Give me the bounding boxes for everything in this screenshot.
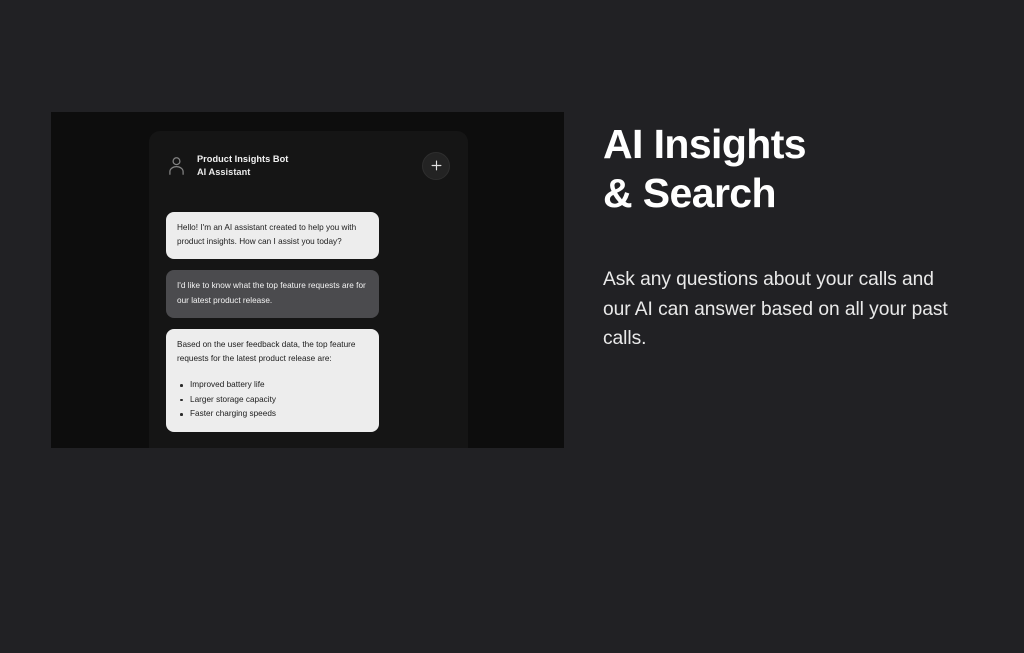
- message-text: I'd like to know what the top feature re…: [177, 279, 368, 307]
- list-item: Larger storage capacity: [190, 393, 368, 408]
- message-row: I'd like to know what the top feature re…: [166, 270, 451, 317]
- page-title: AI Insights & Search: [603, 120, 963, 218]
- list-item: Faster charging speeds: [190, 407, 368, 422]
- plus-icon: [431, 160, 442, 171]
- chat-title: Product Insights Bot: [197, 153, 422, 165]
- message-list: Hello! I'm an AI assistant created to he…: [166, 212, 451, 443]
- bot-message-bubble: Based on the user feedback data, the top…: [166, 329, 379, 432]
- user-message-bubble: I'd like to know what the top feature re…: [166, 270, 379, 317]
- message-row: Based on the user feedback data, the top…: [166, 329, 451, 432]
- app-preview-panel: Product Insights Bot AI Assistant Hello!…: [51, 112, 564, 448]
- message-text: Hello! I'm an AI assistant created to he…: [177, 221, 368, 249]
- bot-message-bubble: Hello! I'm an AI assistant created to he…: [166, 212, 379, 259]
- user-outline-icon: [168, 156, 185, 175]
- chat-header: Product Insights Bot AI Assistant: [149, 131, 468, 200]
- feature-request-list: Improved battery life Larger storage cap…: [177, 378, 368, 422]
- page-description: Ask any questions about your calls and o…: [603, 218, 963, 354]
- chat-header-titles: Product Insights Bot AI Assistant: [197, 153, 422, 178]
- message-text: Based on the user feedback data, the top…: [177, 338, 368, 366]
- copy-column: AI Insights & Search Ask any questions a…: [603, 120, 963, 354]
- message-row: Hello! I'm an AI assistant created to he…: [166, 212, 451, 259]
- list-item: Improved battery life: [190, 378, 368, 393]
- chat-card: Product Insights Bot AI Assistant Hello!…: [149, 131, 468, 448]
- new-chat-button[interactable]: [422, 152, 450, 180]
- chat-subtitle: AI Assistant: [197, 166, 422, 178]
